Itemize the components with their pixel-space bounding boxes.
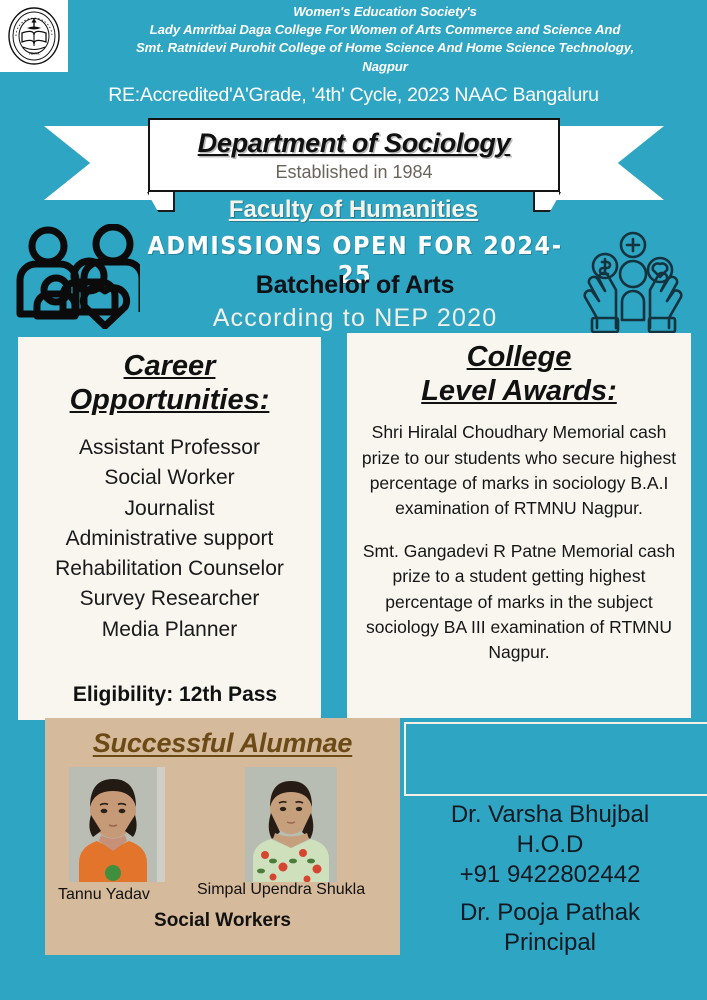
awards-heading-line-2: Level Awards:	[347, 375, 691, 409]
college-logo: VIDYA	[0, 0, 68, 72]
svg-text:VIDYA: VIDYA	[28, 52, 40, 56]
college-crest-icon: VIDYA	[5, 5, 63, 67]
institution-header: Women's Education Society's Lady Amritba…	[70, 3, 700, 76]
established-year: Established in 1984	[275, 163, 432, 181]
principal-name: Dr. Pooja Pathak	[400, 898, 700, 928]
college-name-line-1: Lady Amritbai Daga College For Women of …	[70, 21, 700, 39]
college-name-line-2: Smt. Ratnidevi Purohit College of Home S…	[70, 39, 700, 57]
ribbon-center: Department of Sociology Established in 1…	[148, 118, 560, 192]
ribbon-wing-right	[554, 126, 664, 200]
ribbon-wing-left	[44, 126, 154, 200]
awards-heading-line-1: College	[347, 341, 691, 375]
department-ribbon: Department of Sociology Established in 1…	[44, 118, 664, 206]
list-item: Administrative support	[18, 524, 321, 554]
list-item: Rehabilitation Counselor	[18, 554, 321, 584]
alumna-name: Tannu Yadav	[58, 886, 150, 904]
college-level-awards-panel: College Level Awards: Shri Hiralal Choud…	[347, 333, 691, 718]
list-item: Social Worker	[18, 463, 321, 493]
admissions-policy: According to NEP 2020	[140, 304, 570, 333]
caring-hands-welfare-icon	[572, 228, 694, 339]
award-paragraph: Shri Hiralal Choudhary Memorial cash pri…	[357, 420, 681, 522]
alumna-name: Simpal Upendra Shukla	[197, 881, 365, 899]
hod-title: H.O.D	[400, 830, 700, 860]
family-group-heart-icon	[12, 224, 140, 334]
awards-heading: College Level Awards:	[347, 333, 691, 408]
poster-root: VIDYA Women's Education Society's Lady A…	[0, 0, 707, 1000]
portrait-photo-orange-top	[69, 767, 165, 882]
list-item: Media Planner	[18, 615, 321, 645]
career-opportunities-panel: Career Opportunities: Assistant Professo…	[18, 337, 321, 720]
career-heading-line-1: Career	[18, 350, 321, 384]
career-heading-line-2: Opportunities:	[18, 384, 321, 418]
hod-name: Dr. Varsha Bhujbal	[400, 800, 700, 830]
alumnae-photos	[45, 767, 400, 885]
faculty-label: Faculty of Humanities	[0, 196, 707, 224]
contact-block: Dr. Varsha Bhujbal H.O.D +91 9422802442 …	[400, 800, 700, 958]
college-city: Nagpur	[70, 58, 700, 76]
contact-frame-decoration	[404, 722, 707, 796]
award-paragraph: Smt. Gangadevi R Patne Memorial cash pri…	[357, 539, 681, 666]
portrait-photo-floral-top	[245, 767, 337, 882]
list-item: Journalist	[18, 494, 321, 524]
successful-alumnae-panel: Successful Alumnae	[45, 718, 400, 955]
society-name: Women's Education Society's	[70, 3, 700, 21]
list-item: Assistant Professor	[18, 433, 321, 463]
principal-title: Principal	[400, 928, 700, 958]
awards-body: Shri Hiralal Choudhary Memorial cash pri…	[347, 420, 691, 665]
alumnae-heading: Successful Alumnae	[45, 718, 400, 759]
alumnae-role: Social Workers	[45, 910, 400, 932]
hod-phone[interactable]: +91 9422802442	[400, 860, 700, 890]
accreditation-line: RE:Accredited'A'Grade, '4th' Cycle, 2023…	[0, 84, 707, 107]
career-heading: Career Opportunities:	[18, 337, 321, 417]
career-list: Assistant Professor Social Worker Journa…	[18, 433, 321, 645]
list-item: Survey Researcher	[18, 584, 321, 614]
admissions-program: Batchelor of Arts	[140, 271, 570, 300]
department-title: Department of Sociology	[198, 129, 511, 157]
eligibility-note: Eligibility: 12th Pass	[44, 672, 306, 718]
